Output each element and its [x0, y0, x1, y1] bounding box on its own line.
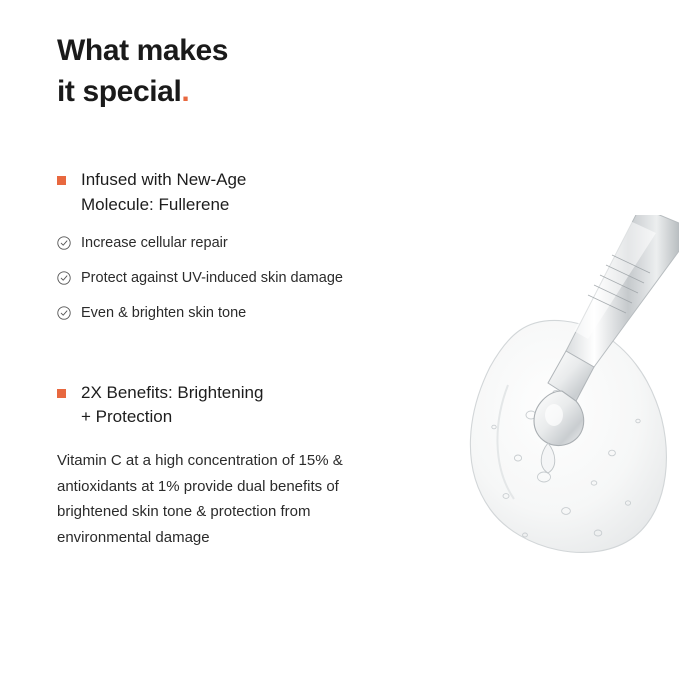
check-circle-icon [57, 306, 71, 320]
feature-block-benefits: 2X Benefits: Brightening + Protection Vi… [57, 381, 367, 551]
feature-title-line-1: Infused with New-Age [81, 170, 246, 189]
feature-description: Vitamin C at a high concentration of 15%… [57, 448, 357, 551]
square-bullet-icon [57, 176, 66, 185]
page-title-line-2: it special. [57, 71, 228, 112]
feature-title-line-2: Molecule: Fullerene [81, 195, 229, 214]
list-item: Protect against UV-induced skin damage [57, 268, 367, 290]
list-item-label: Protect against UV-induced skin damage [81, 270, 343, 286]
feature-title-line-1: 2X Benefits: Brightening [81, 383, 263, 402]
square-bullet-icon [57, 389, 66, 398]
page-title-line-1: What makes [57, 30, 228, 71]
benefit-check-list: Increase cellular repair Protect against… [57, 233, 367, 324]
list-item: Even & brighten skin tone [57, 303, 367, 325]
check-circle-icon [57, 236, 71, 250]
serum-droplet-with-dropper-image [398, 215, 679, 605]
check-circle-icon [57, 271, 71, 285]
page-title: What makes it special. [57, 30, 228, 113]
list-item-label: Increase cellular repair [81, 235, 228, 251]
feature-block-fullerene: Infused with New-Age Molecule: Fullerene… [57, 168, 367, 325]
list-item-label: Even & brighten skin tone [81, 305, 246, 321]
title-accent-dot: . [181, 75, 189, 108]
list-item: Increase cellular repair [57, 233, 367, 255]
feature-title-benefits: 2X Benefits: Brightening + Protection [57, 381, 367, 430]
page-root: What makes it special. Infused with New-… [0, 0, 679, 679]
feature-title-fullerene: Infused with New-Age Molecule: Fullerene [57, 168, 367, 217]
feature-list: Infused with New-Age Molecule: Fullerene… [57, 168, 367, 551]
feature-title-line-2: + Protection [81, 407, 172, 426]
page-title-line-2-text: it special [57, 75, 181, 108]
